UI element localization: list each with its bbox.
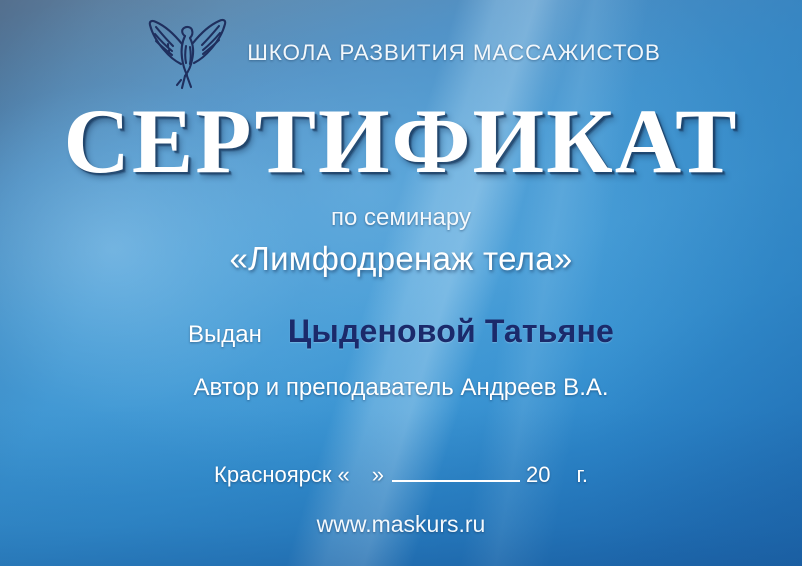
recipient-name: Цыденовой Татьяне [288, 313, 614, 350]
recipient-row: Выдан Цыденовой Татьяне [0, 313, 802, 350]
date-line: Красноярск « » 20 г. [0, 462, 802, 488]
certificate-title: СЕРТИФИКАТ [0, 97, 802, 185]
issued-label: Выдан [188, 321, 262, 349]
certificate-canvas: ШКОЛА РАЗВИТИЯ МАССАЖИСТОВ СЕРТИФИКАТ по… [0, 0, 802, 566]
certificate-content: ШКОЛА РАЗВИТИЯ МАССАЖИСТОВ СЕРТИФИКАТ по… [0, 0, 802, 566]
date-city: Красноярск [214, 462, 331, 488]
date-year-suffix: г. [576, 462, 587, 488]
date-quote-open: « [338, 462, 350, 488]
date-year-prefix: 20 [526, 462, 550, 488]
seminar-label: по семинару [0, 204, 802, 232]
date-quote-close: » [372, 462, 384, 488]
date-month-blank[interactable] [392, 463, 520, 482]
dove-bird-line-art-icon [141, 14, 233, 92]
organization-name: ШКОЛА РАЗВИТИЯ МАССАЖИСТОВ [247, 40, 661, 66]
certificate-header: ШКОЛА РАЗВИТИЯ МАССАЖИСТОВ [0, 14, 802, 92]
seminar-name: «Лимфодренаж тела» [0, 240, 802, 278]
author-line: Автор и преподаватель Андреев В.А. [0, 374, 802, 402]
website-url[interactable]: www.maskurs.ru [0, 511, 802, 538]
